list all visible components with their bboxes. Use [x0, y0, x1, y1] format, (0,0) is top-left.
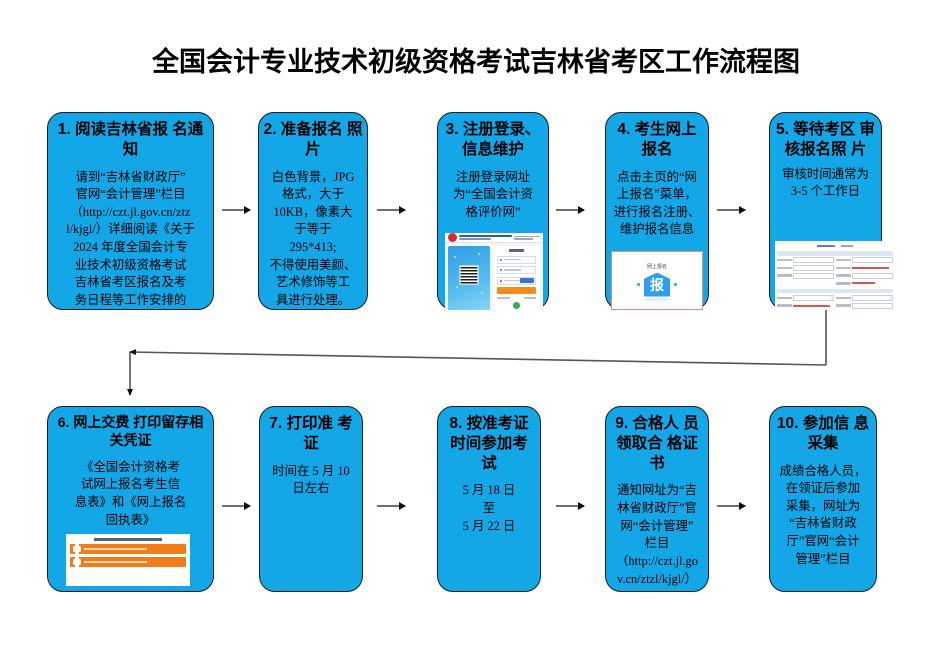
wrap-connector-step-5-to-6: [0, 300, 952, 410]
captcha-image[interactable]: [520, 278, 534, 283]
step-10-heading: 10. 参加信 息采集: [770, 407, 876, 454]
step-4-heading: 4. 考生网上 报名: [606, 113, 708, 160]
arrow-step-2-to-3: [377, 209, 405, 211]
flow-step-1[interactable]: 1. 阅读吉林省报 名通知 请到“吉林省财政厅” 官网“会计管理”栏目 （htt…: [47, 112, 214, 310]
arrow-step-6-to-7: [222, 505, 250, 507]
form-section-header: [777, 251, 893, 256]
arrow-step-3-to-4: [556, 209, 584, 211]
flow-step-8[interactable]: 8. 按准考证 时间参加考 试 5 月 18 日 至 5 月 22 日: [437, 406, 541, 592]
step-5-heading: 5. 等待考区 审核报名照 片: [770, 113, 881, 160]
arrow-step-4-to-5: [717, 209, 745, 211]
flow-step-2[interactable]: 2. 准备报名 照片 白色背景，JPG 格式，大于 10KB，像素大 于等于 2…: [258, 112, 368, 310]
arrow-step-1-to-2: [222, 209, 250, 211]
print-button-label: [84, 548, 147, 550]
form-input[interactable]: [852, 303, 893, 309]
form-input[interactable]: [793, 257, 834, 263]
arrow-step-8-to-9: [556, 505, 584, 507]
step-1-heading: 1. 阅读吉林省报 名通知: [48, 113, 213, 160]
printer-icon: [73, 546, 81, 552]
step-10-body: 成绩合格人员， 在领证后参加 采集，网址为 “吉林省财政 厅”官网“会计 管理”…: [770, 454, 876, 569]
print-receipt-sheet-button[interactable]: [70, 557, 186, 567]
captcha-field[interactable]: [497, 277, 536, 285]
form-validation-error: [793, 305, 829, 307]
page-title: 全国会计专业技术初级资格考试吉林省考区工作流程图: [0, 40, 952, 79]
registration-form-thumbnail: [775, 241, 895, 310]
print-button-label: [84, 561, 147, 563]
step-7-heading: 7. 打印准 考证: [260, 407, 362, 454]
step-4-body: 点击主页的“网 上报名”菜单， 进行报名注册、 维护报名信息: [606, 160, 708, 239]
login-form: [493, 246, 540, 310]
form-section-education: [777, 289, 893, 310]
online-signup-thumbnail: 网上报名 报: [611, 251, 703, 310]
print-panel-title: [94, 538, 161, 541]
form-input[interactable]: [852, 257, 893, 263]
form-section-basic: [777, 251, 893, 286]
login-page-main: [445, 243, 543, 310]
signup-badge-icon: 报: [644, 273, 670, 297]
step-6-body: 《全国会计资格考 试网上报名考生信 息表》和《网上报名 回执表》: [48, 450, 213, 529]
form-tab-active[interactable]: [817, 245, 835, 248]
sparkle-left-icon: [637, 283, 640, 286]
step-7-body: 时间在 5 月 10 日左右: [260, 454, 362, 498]
login-form-title: [509, 249, 524, 252]
online-signup-label: 网上报名: [647, 263, 667, 270]
step-6-heading: 6. 网上交费 打印留存相关凭证: [48, 407, 213, 450]
print-info-sheet-button[interactable]: [70, 544, 186, 554]
arrow-step-9-to-10: [717, 505, 745, 507]
sparkle-right-icon: [674, 283, 677, 286]
print-voucher-thumbnail: [66, 534, 190, 586]
flow-step-10[interactable]: 10. 参加信 息采集 成绩合格人员， 在领证后参加 采集，网址为 “吉林省财政…: [769, 406, 877, 592]
step-9-heading: 9. 合格人 员领取合 格证书: [606, 407, 708, 473]
qr-code-icon: [460, 266, 479, 285]
badge-shadow: [642, 298, 672, 301]
step-8-heading: 8. 按准考证 时间参加考 试: [438, 407, 540, 473]
login-page-header: [445, 233, 543, 243]
step-2-body: 白色背景，JPG 格式，大于 10KB，像素大 于等于 295*413; 不得使…: [259, 160, 367, 310]
step-8-body: 5 月 18 日 至 5 月 22 日: [438, 473, 540, 535]
form-select[interactable]: [852, 295, 893, 301]
step-2-heading: 2. 准备报名 照片: [259, 113, 367, 160]
form-validation-error: [852, 267, 888, 269]
login-page-header-title: [459, 235, 512, 240]
national-emblem-icon: [448, 233, 457, 242]
security-shield-icon: [513, 302, 520, 309]
form-select[interactable]: [793, 295, 834, 301]
qr-login-panel: [448, 246, 490, 310]
login-page-thumbnail: [445, 233, 543, 310]
online-signup-badge-wrap: 报: [644, 273, 670, 297]
arrow-step-7-to-8: [377, 505, 405, 507]
form-input[interactable]: [852, 273, 893, 279]
username-field[interactable]: [497, 256, 536, 264]
step-9-body: 通知网址为“吉 林省财政厅”官 网“会计管理” 栏目 （http://czt.j…: [606, 473, 708, 588]
printer-icon: [73, 559, 81, 565]
flow-step-7[interactable]: 7. 打印准 考证 时间在 5 月 10 日左右: [259, 406, 363, 592]
flow-step-9[interactable]: 9. 合格人 员领取合 格证书 通知网址为“吉 林省财政厅”官 网“会计管理” …: [605, 406, 709, 592]
step-1-body: 请到“吉林省财政厅” 官网“会计管理”栏目 （http://czt.jl.gov…: [48, 160, 213, 310]
form-input[interactable]: [793, 273, 834, 279]
login-page-header-links: [514, 236, 540, 240]
form-tab-secondary[interactable]: [841, 245, 853, 248]
form-section-header: [777, 289, 893, 294]
step-3-heading: 3. 注册登录、 信息维护: [438, 113, 548, 160]
password-field[interactable]: [497, 266, 536, 274]
step-5-body: 审核时间通常为 3-5 个工作日: [770, 160, 881, 201]
login-helper-links[interactable]: [497, 297, 536, 299]
step-3-body: 注册登录网址 为“全国会计资 格评价网”: [438, 160, 548, 222]
form-validation-error: [852, 282, 875, 284]
login-submit-button[interactable]: [497, 287, 536, 294]
form-input[interactable]: [793, 265, 834, 271]
form-tab-bar: [777, 243, 893, 249]
